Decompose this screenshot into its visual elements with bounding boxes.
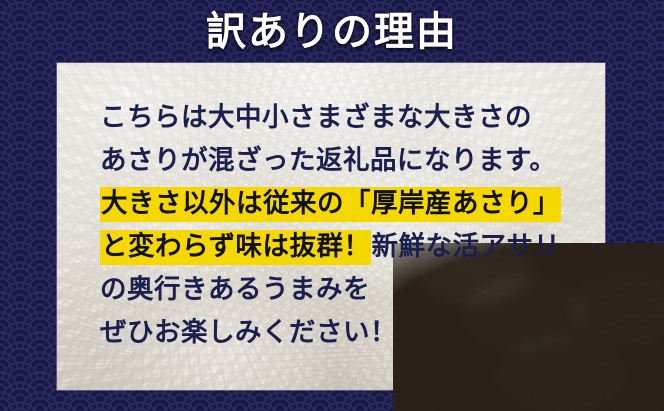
copy-line-3: 大きさ以外は従来の「厚岸産あさり」 [100, 182, 570, 225]
highlighted-text-3-1: 大きさ以外は従来の「厚岸産あさり」 [100, 187, 561, 222]
plain-text-6-1: ぜひお楽しみください！ [100, 317, 397, 348]
plain-text-2-1: あさりが混ざった返礼品になります。 [100, 145, 556, 176]
copy-line-4: と変わらず味は抜群！新鮮な活アサリ [100, 225, 570, 268]
copy-line-1: こちらは大中小さまざまな大きさの [100, 96, 570, 139]
banner-title: 訳ありの理由 [0, 8, 664, 55]
copy-line-6: ぜひお楽しみください！ [100, 311, 570, 354]
plain-text-5-1: の奥行きあるうまみを [100, 274, 370, 305]
promo-banner: 訳ありの理由 こちらは大中小さまざまな大きさのあさりが混ざった返礼品になります。… [0, 0, 664, 411]
plain-text-1-1: こちらは大中小さまざまな大きさの [100, 102, 532, 133]
copy-line-2: あさりが混ざった返礼品になります。 [100, 139, 570, 182]
copy-line-5: の奥行きあるうまみを [100, 268, 570, 311]
highlighted-text-4-1: と変わらず味は抜群！ [100, 230, 371, 265]
plain-text-4-2: 新鮮な活アサリ [371, 231, 560, 262]
body-copy-block: こちらは大中小さまざまな大きさのあさりが混ざった返礼品になります。大きさ以外は従… [100, 96, 570, 354]
